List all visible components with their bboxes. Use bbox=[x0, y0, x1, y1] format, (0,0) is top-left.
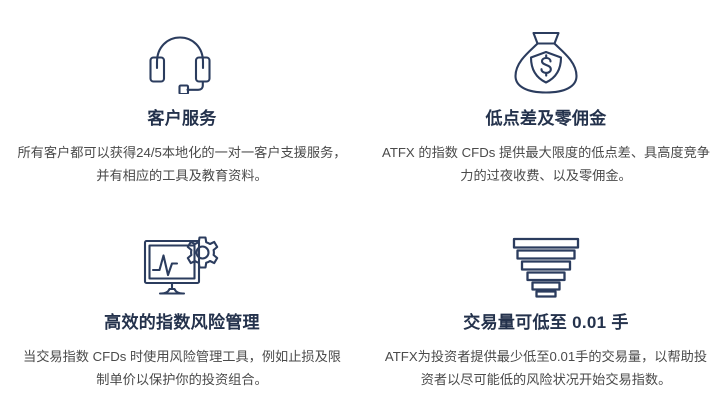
money-bag-shield-dollar-icon bbox=[501, 26, 591, 100]
feature-card-risk-management: 高效的指数风险管理 当交易指数 CFDs 时使用风险管理工具，例如止损及限制单价… bbox=[0, 206, 364, 413]
feature-title: 交易量可低至 0.01 手 bbox=[463, 312, 628, 334]
feature-body: 当交易指数 CFDs 时使用风险管理工具，例如止损及限制单价以保护你的投资组合。 bbox=[17, 345, 347, 391]
feature-card-low-spread: 低点差及零佣金 ATFX 的指数 CFDs 提供最大限度的低点差、具高度竞争力的… bbox=[364, 0, 728, 206]
feature-body: ATFX 的指数 CFDs 提供最大限度的低点差、具高度竞争力的过夜收费、以及零… bbox=[381, 141, 711, 187]
features-grid: 客户服务 所有客户都可以获得24/5本地化的一对一客户支援服务，并有相应的工具及… bbox=[0, 0, 728, 413]
monitor-chart-gear-icon bbox=[137, 230, 227, 304]
feature-title: 低点差及零佣金 bbox=[485, 108, 606, 130]
feature-card-min-lot-size: 交易量可低至 0.01 手 ATFX为投资者提供最少低至0.01手的交易量，以帮… bbox=[364, 206, 728, 413]
feature-body: ATFX为投资者提供最少低至0.01手的交易量，以帮助投资者以尽可能低的风险状况… bbox=[381, 345, 711, 391]
headset-icon bbox=[137, 26, 227, 100]
feature-card-customer-service: 客户服务 所有客户都可以获得24/5本地化的一对一客户支援服务，并有相应的工具及… bbox=[0, 0, 364, 206]
feature-body: 所有客户都可以获得24/5本地化的一对一客户支援服务，并有相应的工具及教育资料。 bbox=[17, 141, 347, 187]
feature-title: 客户服务 bbox=[147, 108, 216, 130]
feature-title: 高效的指数风险管理 bbox=[104, 312, 260, 334]
funnel-bars-icon bbox=[501, 230, 591, 304]
